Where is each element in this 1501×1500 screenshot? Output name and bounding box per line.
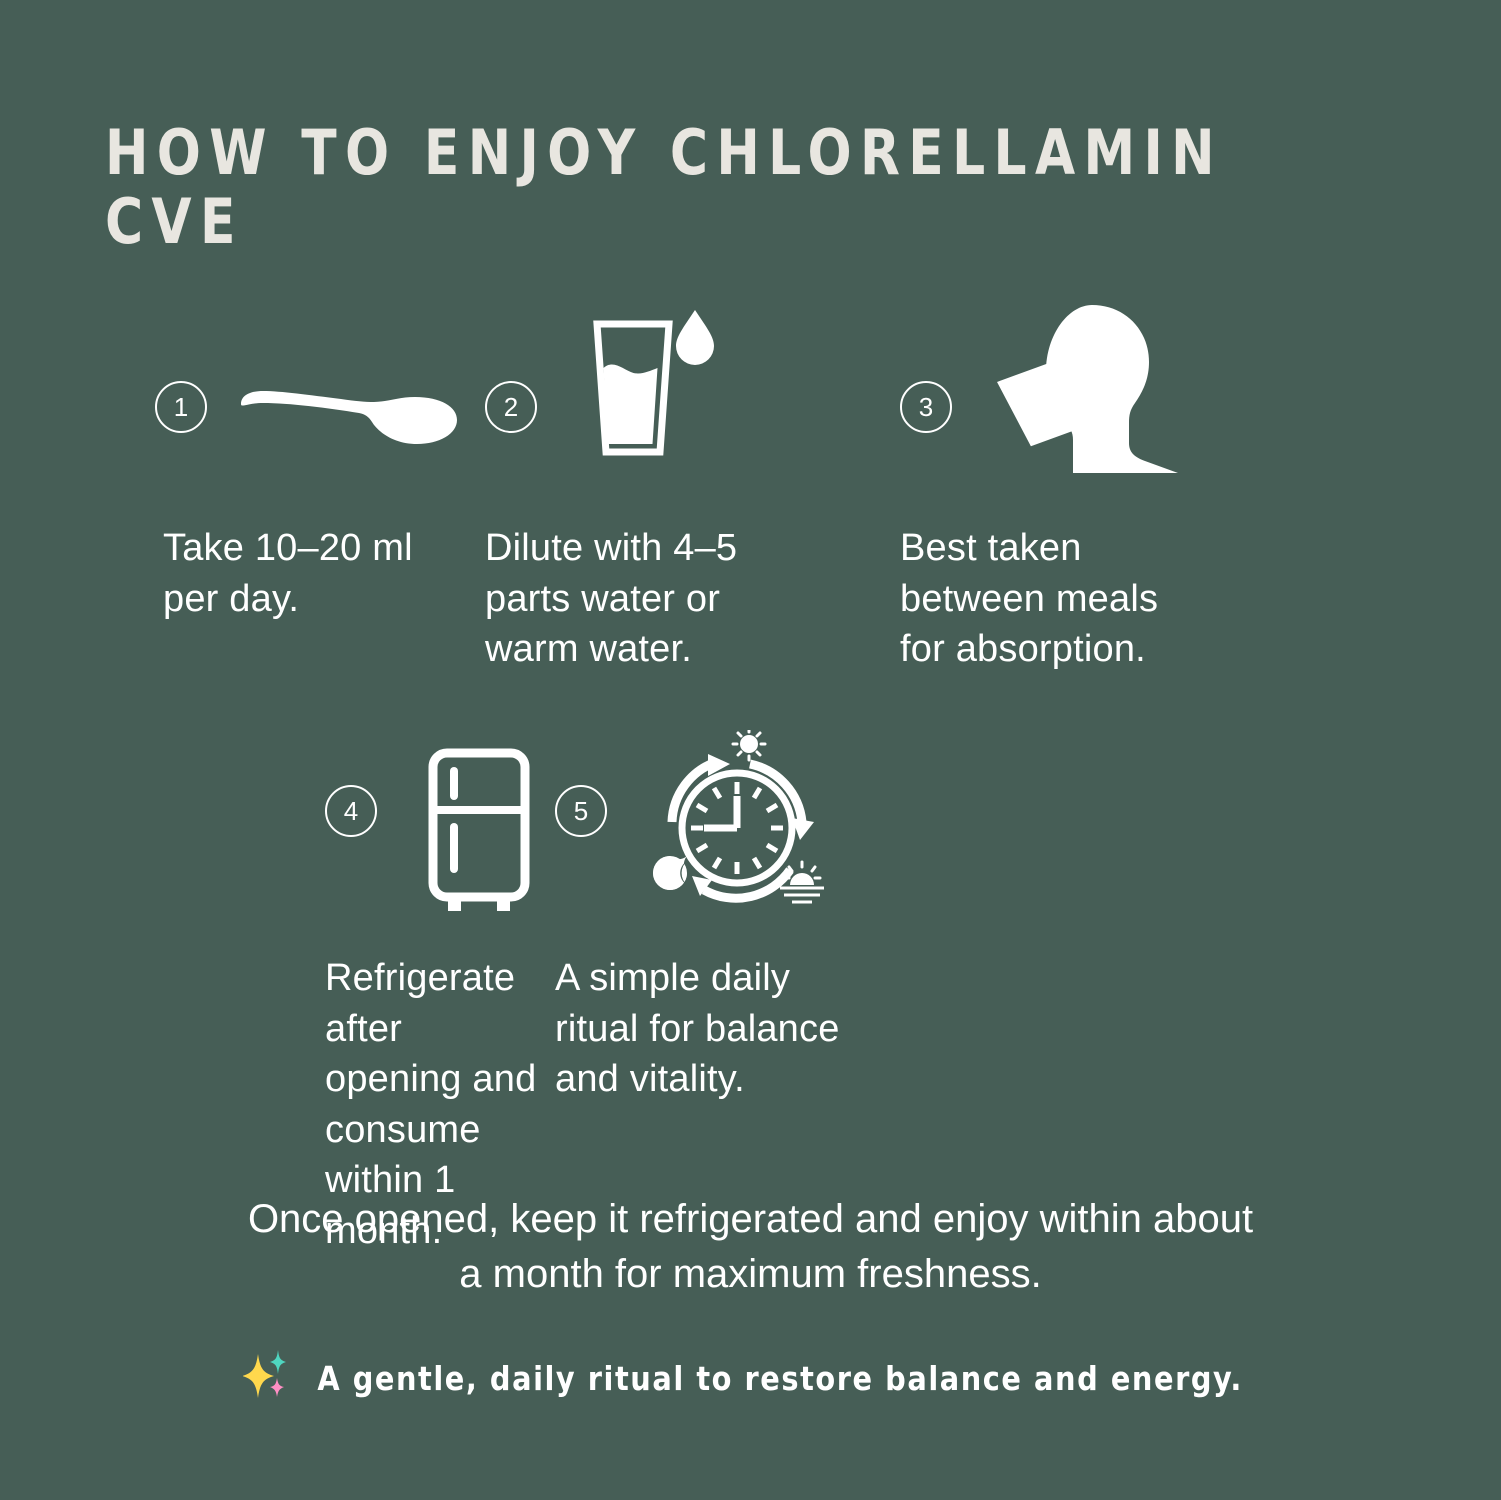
step-text-1: Take 10–20 ml per day. bbox=[163, 523, 470, 624]
spoon-icon bbox=[229, 367, 459, 445]
steps-row-bottom: 4 Refrigerate after opening and consume … bbox=[0, 730, 1501, 1256]
step-text-5: A simple daily ritual for balance and vi… bbox=[555, 953, 965, 1105]
step-header-4: 4 bbox=[325, 730, 545, 915]
step-header-1: 1 bbox=[155, 300, 470, 485]
step-item-1: 1 Take 10–20 ml per day. bbox=[0, 300, 470, 675]
step-number-badge-4: 4 bbox=[325, 785, 377, 837]
poster-canvas: HOW TO ENJOY CHLORELLAMIN CVE 1 Take 10–… bbox=[0, 0, 1501, 1500]
step-header-2: 2 bbox=[485, 300, 890, 485]
step-number-badge-2: 2 bbox=[485, 381, 537, 433]
daily-cycle-clock-icon bbox=[642, 730, 827, 915]
sparkles-icon bbox=[243, 1348, 289, 1408]
step-text-3: Best taken between meals for absorption. bbox=[900, 523, 1310, 675]
step-item-4: 4 Refrigerate after opening and consume … bbox=[0, 730, 545, 1256]
step-number-badge-3: 3 bbox=[900, 381, 952, 433]
person-drinking-icon bbox=[992, 301, 1182, 473]
step-item-3: 3 Best taken between meals for absorptio… bbox=[890, 300, 1310, 675]
footer-note: Once opened, keep it refrigerated and en… bbox=[0, 1192, 1501, 1302]
refrigerator-icon bbox=[419, 747, 539, 915]
water-glass-icon bbox=[577, 302, 717, 467]
step-number-badge-1: 1 bbox=[155, 381, 207, 433]
step-header-5: 5 bbox=[555, 730, 965, 915]
footer-tagline: A gentle, daily ritual to restore balanc… bbox=[0, 1348, 1501, 1408]
step-text-2: Dilute with 4–5 parts water or warm wate… bbox=[485, 523, 890, 675]
step-header-3: 3 bbox=[900, 300, 1310, 485]
steps-row-top: 1 Take 10–20 ml per day. 2 bbox=[0, 300, 1501, 675]
tagline-text: A gentle, daily ritual to restore balanc… bbox=[318, 1359, 1244, 1398]
page-title: HOW TO ENJOY CHLORELLAMIN CVE bbox=[105, 118, 1333, 257]
step-number-badge-5: 5 bbox=[555, 785, 607, 837]
step-item-5: 5 bbox=[545, 730, 965, 1256]
step-item-2: 2 Dilute with 4–5 parts water or warm wa… bbox=[470, 300, 890, 675]
